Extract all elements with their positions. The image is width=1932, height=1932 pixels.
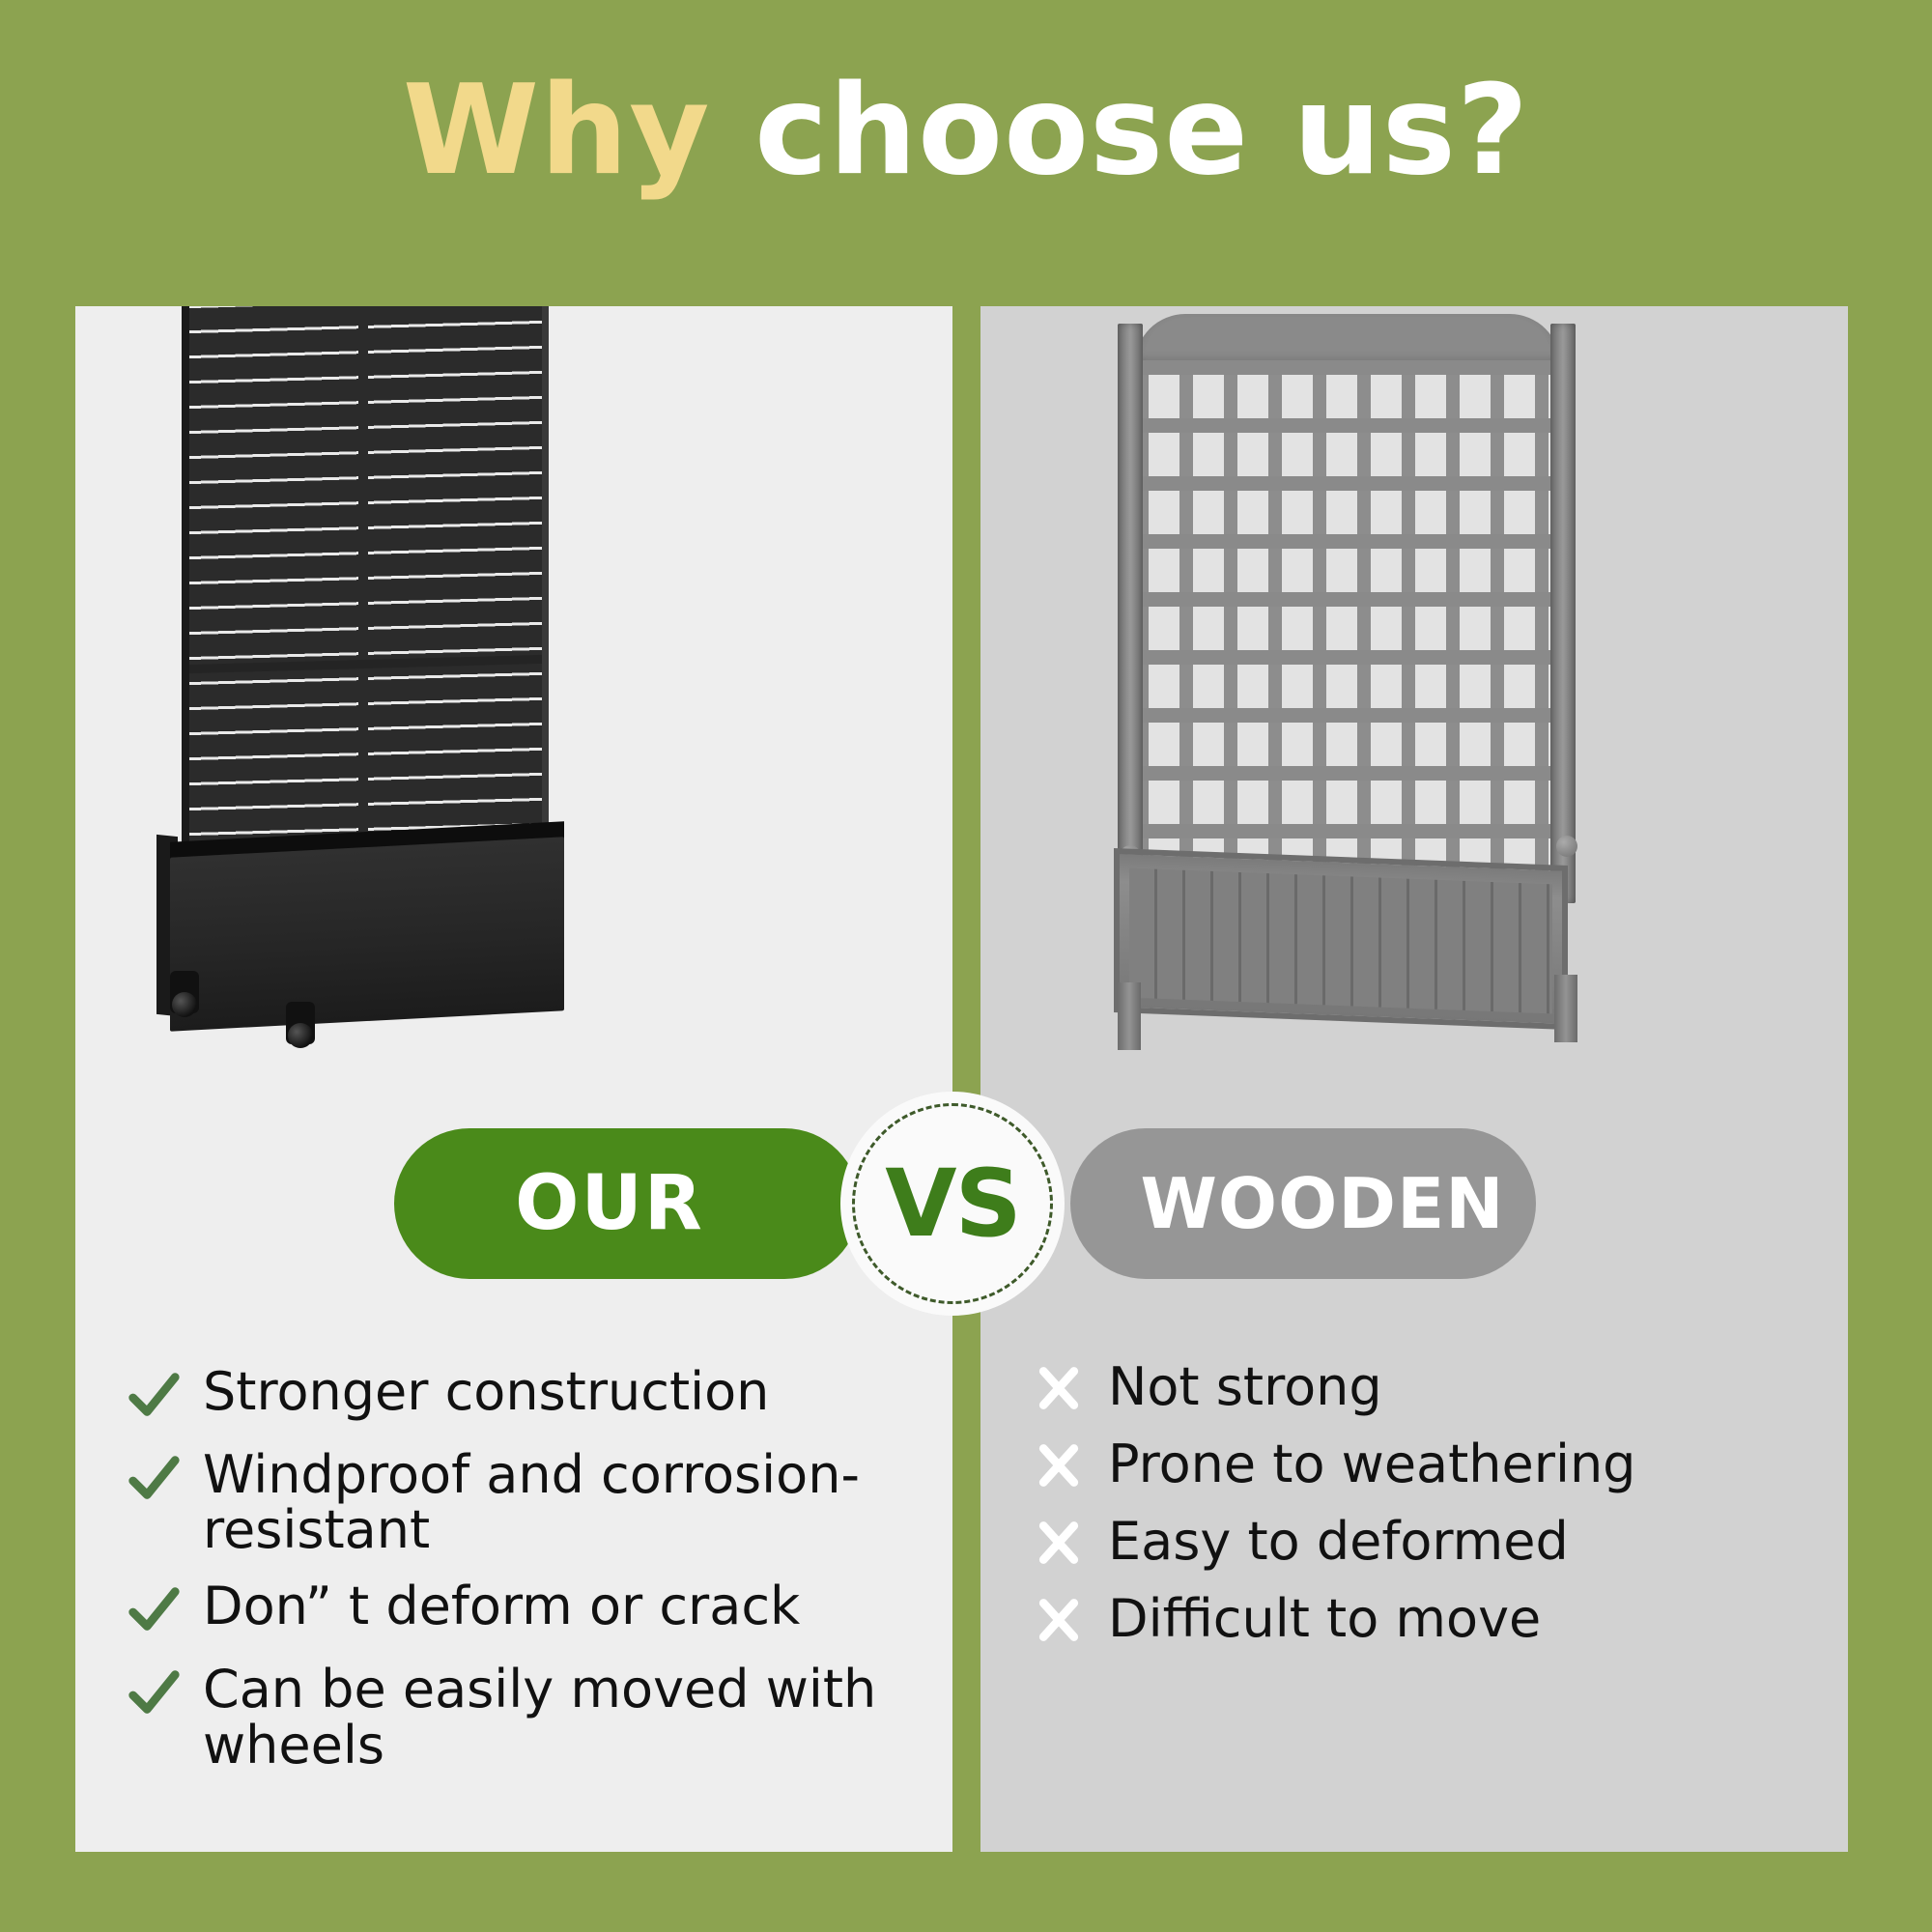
list-item: Don” t deform or crack [104, 1578, 945, 1640]
panel-our-product: Stronger construction Windproof and corr… [75, 306, 952, 1852]
list-item-label: Can be easily moved with wheels [203, 1662, 945, 1772]
wooden-leg-left [1118, 982, 1141, 1050]
list-item: Windproof and corrosion-resistant [104, 1447, 945, 1557]
check-icon [104, 1364, 203, 1426]
wooden-post-right [1550, 324, 1576, 903]
page-title-rest: choose us? [754, 59, 1529, 203]
list-item-label: Stronger construction [203, 1364, 769, 1419]
metal-planter-box [170, 837, 564, 1031]
wooden-finial-right [1556, 836, 1577, 857]
list-item-label: Easy to deformed [1108, 1514, 1569, 1569]
list-item: Prone to weathering [1009, 1436, 1840, 1492]
page-title: Why choose us? [0, 70, 1932, 193]
list-item: Difficult to move [1009, 1591, 1840, 1647]
list-item: Stronger construction [104, 1364, 945, 1426]
vs-banner-row: OUR WOODEN VS [0, 1128, 1932, 1279]
banner-wooden-label: WOODEN [1140, 1163, 1504, 1244]
wooden-leg-right [1554, 975, 1577, 1042]
metal-planter-image [182, 306, 665, 1058]
page-title-highlight: Why [403, 59, 711, 203]
comparison-panels: Stronger construction Windproof and corr… [75, 306, 1848, 1852]
wooden-box-slats [1129, 868, 1552, 1014]
list-item: Not strong [1009, 1359, 1840, 1415]
list-item: Can be easily moved with wheels [104, 1662, 945, 1772]
x-icon [1009, 1591, 1108, 1647]
check-icon [104, 1447, 203, 1509]
list-item: Easy to deformed [1009, 1514, 1840, 1570]
banner-wooden: WOODEN [1070, 1128, 1536, 1279]
wooden-drawback-list: Not strong Prone to weathering Easy to d… [1009, 1359, 1840, 1668]
caster-wheel-icon [286, 1002, 315, 1044]
caster-wheel-icon [170, 971, 199, 1013]
panel-divider [952, 306, 980, 1852]
x-icon [1009, 1359, 1108, 1415]
wooden-post-left [1118, 324, 1143, 903]
vs-badge-label: VS [885, 1150, 1019, 1258]
list-item-label: Difficult to move [1108, 1591, 1541, 1646]
vs-badge: VS [840, 1092, 1065, 1316]
wooden-lattice-horizontal-rails [1135, 360, 1560, 872]
wooden-lattice-grid [1135, 360, 1560, 872]
check-icon [104, 1578, 203, 1640]
list-item-label: Windproof and corrosion-resistant [203, 1447, 945, 1557]
wooden-arch-top [1135, 314, 1560, 366]
wooden-planter-image [1096, 306, 1695, 1079]
panel-wooden-product: Not strong Prone to weathering Easy to d… [980, 306, 1848, 1852]
banner-our-label: OUR [515, 1160, 704, 1247]
x-icon [1009, 1514, 1108, 1570]
metal-slat-screen [182, 306, 549, 887]
banner-our: OUR [394, 1128, 860, 1279]
our-feature-list: Stronger construction Windproof and corr… [104, 1364, 945, 1794]
list-item-label: Prone to weathering [1108, 1436, 1635, 1492]
check-icon [104, 1662, 203, 1723]
list-item-label: Not strong [1108, 1359, 1382, 1414]
wooden-planter-box [1114, 848, 1568, 1030]
metal-screen-seam [189, 655, 542, 673]
x-icon [1009, 1436, 1108, 1492]
list-item-label: Don” t deform or crack [203, 1578, 800, 1634]
